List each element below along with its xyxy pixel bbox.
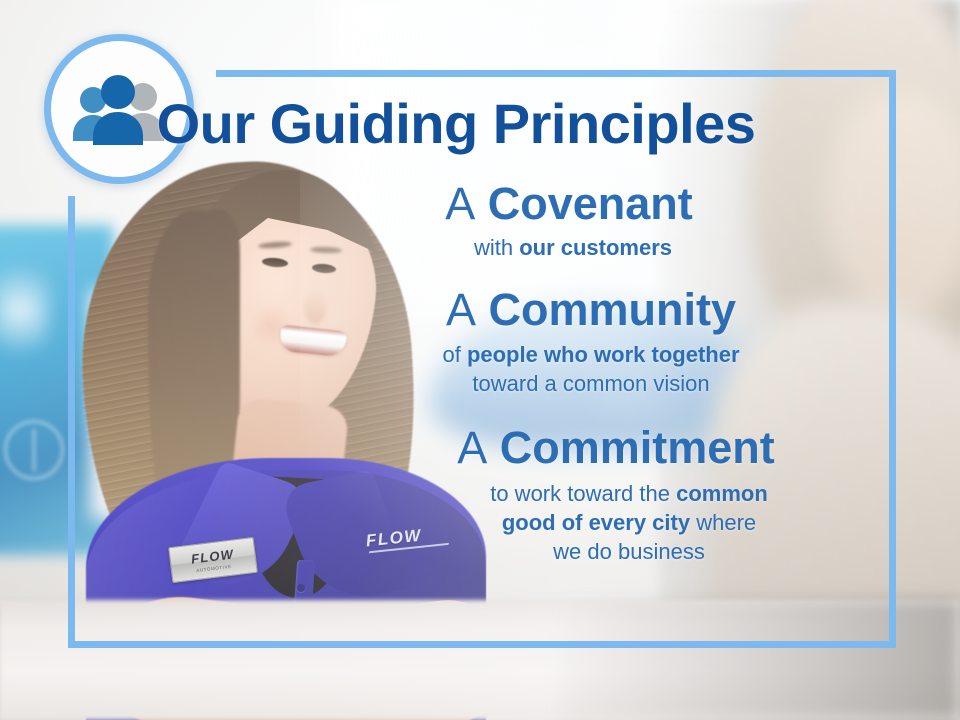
plain-text: toward a common vision — [472, 371, 709, 396]
principle-commitment: A Commitment to work toward the common g… — [250, 424, 896, 566]
principle-subline: toward a common vision — [286, 369, 896, 398]
principle-subline: good of every city where — [362, 508, 896, 537]
principle-covenant: A Covenant with our customers — [250, 180, 896, 262]
principle-keyword: Commitment — [500, 422, 775, 473]
guiding-principles-graphic: FLOW AUTOMOTIVE FLOW — [0, 0, 960, 720]
principle-subline: we do business — [362, 537, 896, 566]
emphasis-text: good of every city — [502, 510, 690, 535]
principle-keyword: Covenant — [488, 178, 693, 229]
principle-subline: to work toward the common — [362, 479, 896, 508]
principle-article: A — [457, 422, 487, 473]
principles-list: A Covenant with our customers A Communit… — [250, 180, 896, 570]
principle-community: A Community of people who work together … — [250, 286, 896, 399]
vw-logo-icon — [4, 420, 64, 480]
plain-text: with — [474, 235, 519, 260]
floor-shadow-right — [560, 600, 960, 720]
emphasis-text: people who work together — [467, 342, 740, 367]
principle-subline: of people who work together — [286, 340, 896, 369]
plain-text: to work toward the — [490, 481, 676, 506]
principle-article: A — [445, 178, 475, 229]
principle-subtext: of people who work together toward a com… — [286, 340, 896, 398]
plain-text: of — [442, 342, 466, 367]
emphasis-text: common — [676, 481, 768, 506]
principle-title: A Covenant — [242, 180, 896, 229]
principle-keyword: Community — [489, 284, 737, 335]
principle-article: A — [446, 284, 476, 335]
principle-title: A Community — [286, 286, 896, 335]
page-title: Our Guiding Principles — [0, 96, 912, 152]
principle-subtext: with our customers — [250, 233, 896, 262]
name-badge-brand: FLOW — [190, 547, 234, 565]
emphasis-text: our customers — [519, 235, 672, 260]
principle-title: A Commitment — [336, 424, 896, 473]
panel-glare — [0, 250, 50, 370]
principle-subtext: to work toward the common good of every … — [362, 479, 896, 566]
plain-text: where — [690, 510, 756, 535]
principle-subline: with our customers — [250, 233, 896, 262]
plain-text: we do business — [553, 539, 705, 564]
